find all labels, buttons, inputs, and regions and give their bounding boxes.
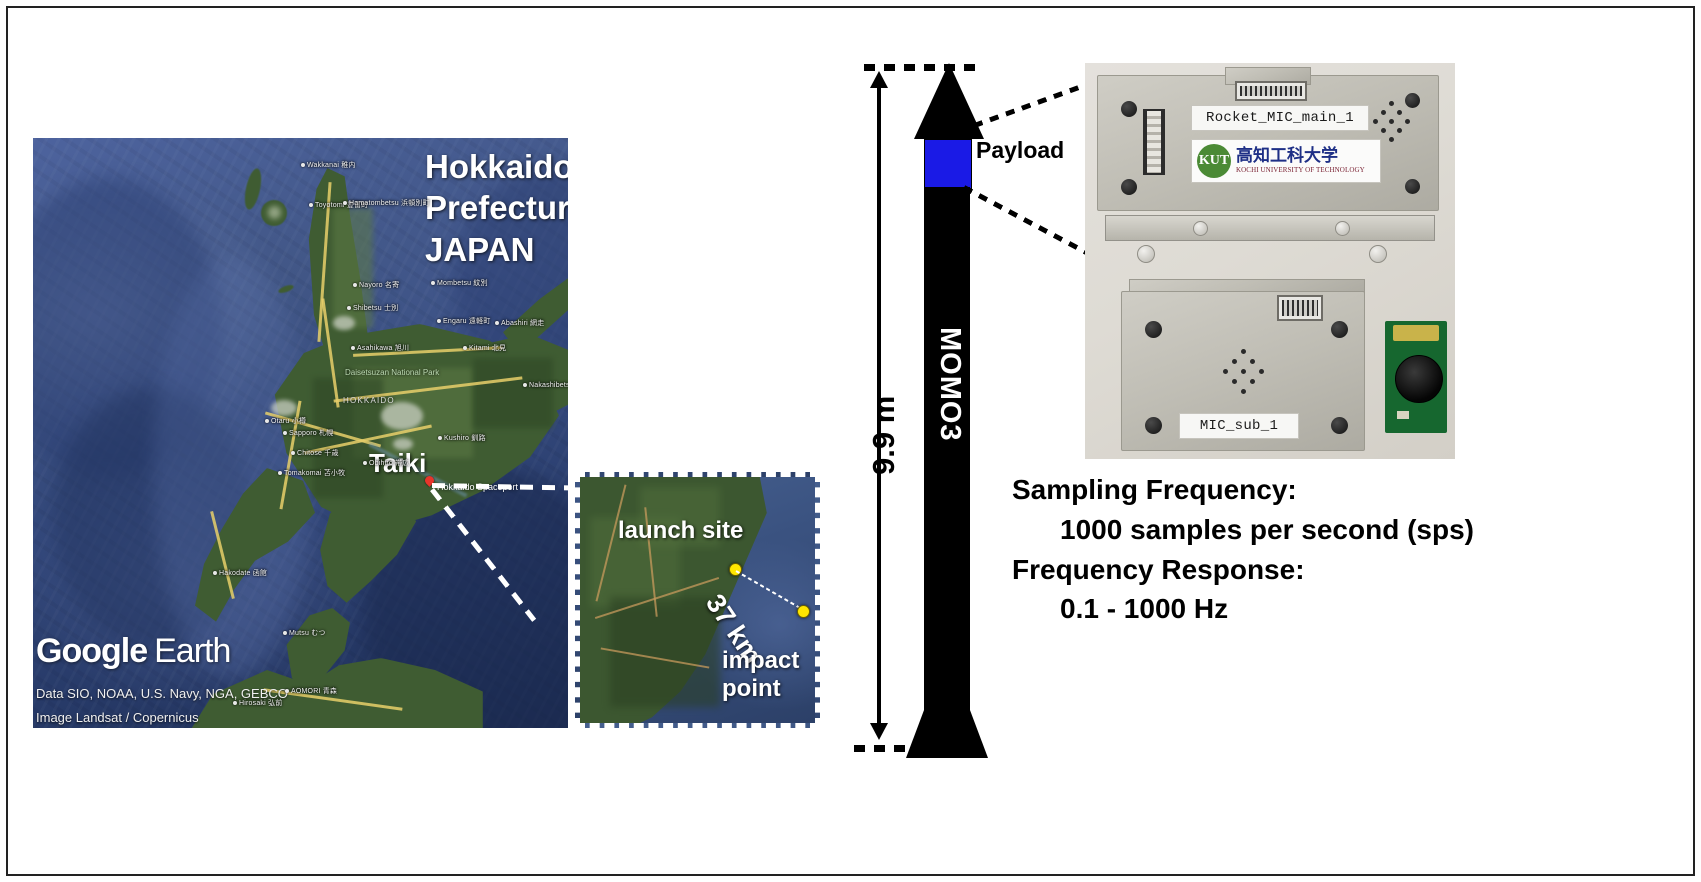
main-unit-screw-tl xyxy=(1121,101,1137,117)
university-label-plate: KUT 高知工科大学 KOCHI UNIVERSITY OF TECHNOLOG… xyxy=(1191,139,1381,183)
sub-unit-label-text: MIC_sub_1 xyxy=(1200,418,1278,434)
city-label: Obihiro 帯広 xyxy=(363,458,410,468)
impact-point-marker xyxy=(797,605,810,618)
city-marker-icon xyxy=(431,281,435,285)
city-marker-icon xyxy=(351,346,355,350)
payload-block xyxy=(924,139,972,191)
main-unit-label-text: Rocket_MIC_main_1 xyxy=(1206,110,1354,126)
city-name: Engaru 遠軽町 xyxy=(443,318,491,325)
city-label: Wakkanai 稚内 xyxy=(301,160,356,170)
frequency-response-value: 0.1 - 1000 Hz xyxy=(1012,589,1572,629)
city-name: Tomakomai 苫小牧 xyxy=(284,470,345,477)
city-label: Nakashibetsu 中標津町 xyxy=(523,380,568,390)
city-label: AOMORI 青森 xyxy=(285,686,337,696)
city-marker-icon xyxy=(233,701,237,705)
city-name: Abashiri 網走 xyxy=(501,320,544,327)
city-name: Nakashibetsu 中標津町 xyxy=(529,382,568,389)
city-name: Chitose 千歳 xyxy=(297,450,339,457)
payload-label: Payload xyxy=(976,137,1064,164)
buzzer-board-pad xyxy=(1397,411,1409,419)
city-label: Sapporo 札幌 xyxy=(283,428,333,438)
city-label: Mutsu むつ xyxy=(283,628,326,638)
housing-bolt-left xyxy=(1137,245,1155,263)
city-marker-icon xyxy=(283,631,287,635)
city-name: Asahikawa 旭川 xyxy=(357,345,409,352)
city-marker-icon xyxy=(353,283,357,287)
sub-unit-screw-br xyxy=(1331,417,1348,434)
kut-emblem-icon: KUT xyxy=(1197,144,1231,178)
main-unit-screw-bl xyxy=(1121,179,1137,195)
university-names: 高知工科大学 KOCHI UNIVERSITY OF TECHNOLOGY xyxy=(1236,148,1365,174)
attribution-line-2: Image Landsat / Copernicus xyxy=(36,710,199,725)
city-name: AOMORI 青森 xyxy=(291,688,337,695)
rocket-body xyxy=(924,187,970,717)
city-label: Shibetsu 士別 xyxy=(347,303,398,313)
city-label: Otaru 小樽 xyxy=(265,416,306,426)
rail-bolt-1 xyxy=(1193,221,1208,236)
city-marker-icon xyxy=(309,203,313,207)
city-marker-icon xyxy=(301,163,305,167)
city-label: Kitami 北見 xyxy=(463,343,506,353)
main-map: Hokkaido Prefecture, JAPAN Daisetsuzan N… xyxy=(33,138,568,728)
city-label: Chitose 千歳 xyxy=(291,448,339,458)
city-label: Hamatombetsu 浜頓別町 xyxy=(343,198,430,208)
sub-unit-mic-holes-icon xyxy=(1217,349,1273,399)
city-name: Hakodate 函館 xyxy=(219,570,267,577)
city-marker-icon xyxy=(265,419,269,423)
main-unit-label-plate: Rocket_MIC_main_1 xyxy=(1191,105,1369,131)
city-name: Nayoro 名寄 xyxy=(359,282,399,289)
city-marker-icon xyxy=(495,321,499,325)
map-title: Hokkaido Prefecture, JAPAN xyxy=(425,146,568,270)
main-unit-connector xyxy=(1235,81,1307,101)
city-marker-icon xyxy=(363,461,367,465)
sub-unit-screw-tl xyxy=(1145,321,1162,338)
earth-wordmark: Earth xyxy=(154,632,230,670)
main-unit-cable xyxy=(1147,111,1161,173)
snowfield-daisetsuzan xyxy=(381,402,423,430)
city-marker-icon xyxy=(523,383,527,387)
inset-map: launch site 37 km impact point xyxy=(575,472,820,728)
city-marker-icon xyxy=(343,201,347,205)
dimension-arrow-bottom xyxy=(870,723,888,740)
city-label: Abashiri 網走 xyxy=(495,318,544,328)
city-label: Engaru 遠軽町 xyxy=(437,316,491,326)
city-marker-icon xyxy=(291,451,295,455)
payload-photo: Rocket_MIC_main_1 KUT 高知工科大学 KOCHI UNIVE… xyxy=(1085,63,1455,459)
park-label: Daisetsuzan National Park xyxy=(345,368,439,377)
city-label: Mombetsu 紋別 xyxy=(431,278,488,288)
rail-bolt-2 xyxy=(1335,221,1350,236)
buzzer-board-trace xyxy=(1393,325,1439,341)
city-label: Hirosaki 弘前 xyxy=(233,698,282,708)
city-marker-icon xyxy=(437,319,441,323)
frequency-response-title: Frequency Response: xyxy=(1012,550,1572,590)
city-label: Tomakomai 苫小牧 xyxy=(278,468,345,478)
city-marker-icon xyxy=(213,571,217,575)
city-label: Kushiro 釧路 xyxy=(438,433,486,443)
city-marker-icon xyxy=(278,471,282,475)
city-marker-icon xyxy=(283,431,287,435)
sampling-frequency-value: 1000 samples per second (sps) xyxy=(1012,510,1572,550)
city-marker-icon xyxy=(463,346,467,350)
city-name: Hirosaki 弘前 xyxy=(239,700,282,707)
mounting-rail-upper xyxy=(1105,215,1435,241)
city-name: Hamatombetsu 浜頓別町 xyxy=(349,200,430,207)
rocket-height-label: 9.9 m xyxy=(866,396,902,475)
launch-site-label: launch site xyxy=(618,517,743,545)
city-name: Kushiro 釧路 xyxy=(444,435,486,442)
city-name: Wakkanai 稚内 xyxy=(307,162,356,169)
city-name: Obihiro 帯広 xyxy=(369,460,410,467)
specifications-block: Sampling Frequency: 1000 samples per sec… xyxy=(1012,470,1572,629)
buzzer-component xyxy=(1395,355,1443,403)
city-marker-icon xyxy=(438,436,442,440)
terrain-shadow-2 xyxy=(473,358,553,428)
impact-point-label: impact point xyxy=(722,647,799,702)
university-name-en: KOCHI UNIVERSITY OF TECHNOLOGY xyxy=(1236,167,1365,174)
sub-unit-screw-tr xyxy=(1331,321,1348,338)
sub-unit-label-plate: MIC_sub_1 xyxy=(1179,413,1299,439)
city-marker-icon xyxy=(285,689,289,693)
sub-unit-screw-bl xyxy=(1145,417,1162,434)
city-name: Mutsu むつ xyxy=(289,630,326,637)
google-wordmark: Google xyxy=(36,632,147,670)
snowfield-2 xyxy=(333,316,355,330)
city-name: Otaru 小樽 xyxy=(271,418,306,425)
main-unit-screw-br xyxy=(1405,179,1420,194)
figure-canvas: Hokkaido Prefecture, JAPAN Daisetsuzan N… xyxy=(0,0,1701,882)
sub-unit-connector xyxy=(1277,295,1323,321)
city-label: Nayoro 名寄 xyxy=(353,280,399,290)
city-label: Asahikawa 旭川 xyxy=(351,343,409,353)
city-name: Mombetsu 紋別 xyxy=(437,280,488,287)
sampling-frequency-title: Sampling Frequency: xyxy=(1012,470,1572,510)
rocket-tail xyxy=(906,710,988,758)
rocket-name-label: MOMO3 xyxy=(933,327,966,442)
city-name: Kitami 北見 xyxy=(469,345,506,352)
city-label: Hakodate 函館 xyxy=(213,568,267,578)
city-name: Sapporo 札幌 xyxy=(289,430,333,437)
city-marker-icon xyxy=(347,306,351,310)
region-label: HOKKAIDO xyxy=(343,396,395,405)
university-name-jp: 高知工科大学 xyxy=(1236,148,1365,165)
rocket-diagram: 9.9 m MOMO3 Payload xyxy=(846,55,1046,775)
city-name: Shibetsu 士別 xyxy=(353,305,398,312)
google-earth-logo: GoogleEarth xyxy=(36,632,230,671)
island-rebun-peak xyxy=(268,206,281,219)
housing-bolt-right xyxy=(1369,245,1387,263)
